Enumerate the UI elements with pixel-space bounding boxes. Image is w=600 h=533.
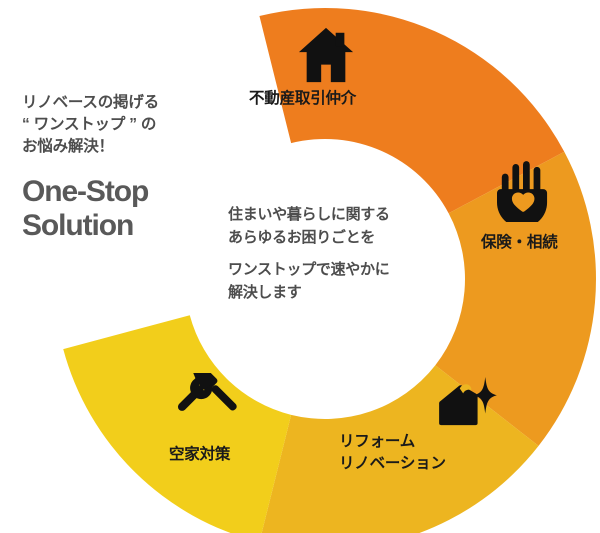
segment-label-insurance: 保険・相続 xyxy=(481,232,558,254)
segment-label-reform: リフォーム リノベーション xyxy=(339,431,446,475)
center-copy-line-1: 住まいや暮らしに関する xyxy=(228,204,453,227)
brand-title-line-2: Solution xyxy=(22,209,237,243)
brand-title: One-Stop Solution xyxy=(22,175,237,243)
one-stop-solution-infographic: リノベースの掲げる “ ワンストップ ” の お悩み解決！ One-Stop S… xyxy=(0,0,600,533)
hand-heart-icon xyxy=(497,160,549,222)
segment-label-akiya: 空家対策 xyxy=(169,444,230,466)
brand-title-line-1: One-Stop xyxy=(22,175,237,209)
center-copy-block: 住まいや暮らしに関する あらゆるお困りごとを ワンストップで速やかに 解決します xyxy=(228,204,453,304)
lead-line-3: お悩み解決！ xyxy=(22,136,237,158)
house-icon xyxy=(295,26,357,84)
segment-label-real-estate: 不動産取引仲介 xyxy=(249,88,356,110)
house-sparkle-icon xyxy=(437,377,497,427)
lead-line-2: “ ワンストップ ” の xyxy=(22,114,237,136)
hammer-wrench-icon xyxy=(176,373,238,431)
center-copy-line-4: 解決します xyxy=(228,282,453,305)
center-copy-line-2: あらゆるお困りごとを xyxy=(228,227,453,250)
center-copy-spacer xyxy=(228,249,453,259)
left-headline-block: リノベースの掲げる “ ワンストップ ” の お悩み解決！ One-Stop S… xyxy=(22,92,237,243)
segment-label-reform-line-1: リフォーム xyxy=(339,431,446,453)
lead-line-1: リノベースの掲げる xyxy=(22,92,237,114)
segment-label-reform-line-2: リノベーション xyxy=(339,453,446,475)
center-copy-line-3: ワンストップで速やかに xyxy=(228,259,453,282)
